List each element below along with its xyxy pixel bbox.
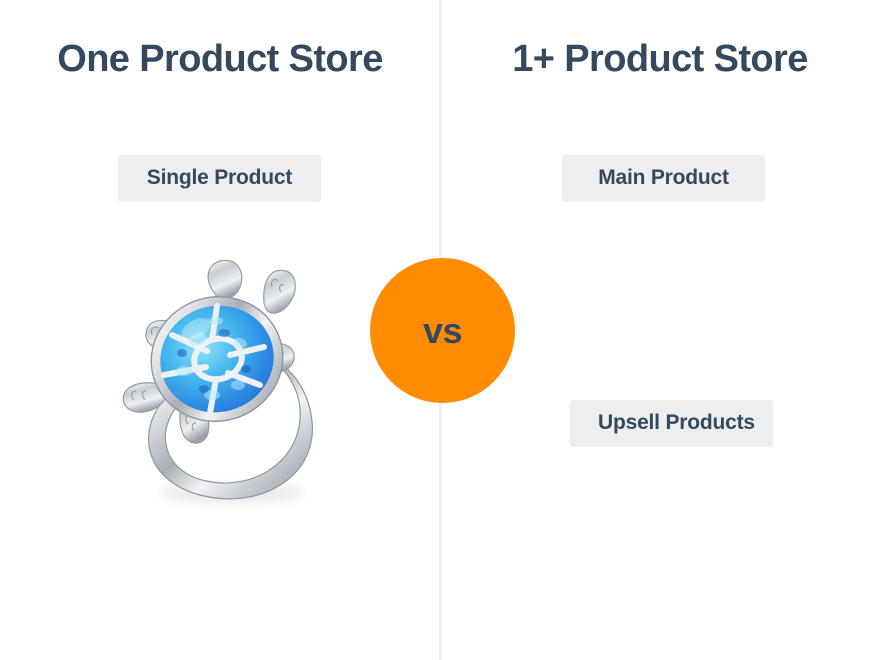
main-product-badge: Main Product: [562, 155, 765, 202]
vs-badge: vs: [370, 258, 515, 403]
upsell-products-badge: Upsell Products: [570, 400, 773, 447]
comparison-graphic: One Product Store Single Product: [0, 0, 880, 660]
right-column-title: 1+ Product Store: [440, 38, 880, 81]
vs-label: vs: [423, 310, 462, 352]
single-product-badge: Single Product: [118, 155, 321, 202]
single-product-image: [112, 243, 338, 507]
left-column-title: One Product Store: [0, 38, 440, 81]
